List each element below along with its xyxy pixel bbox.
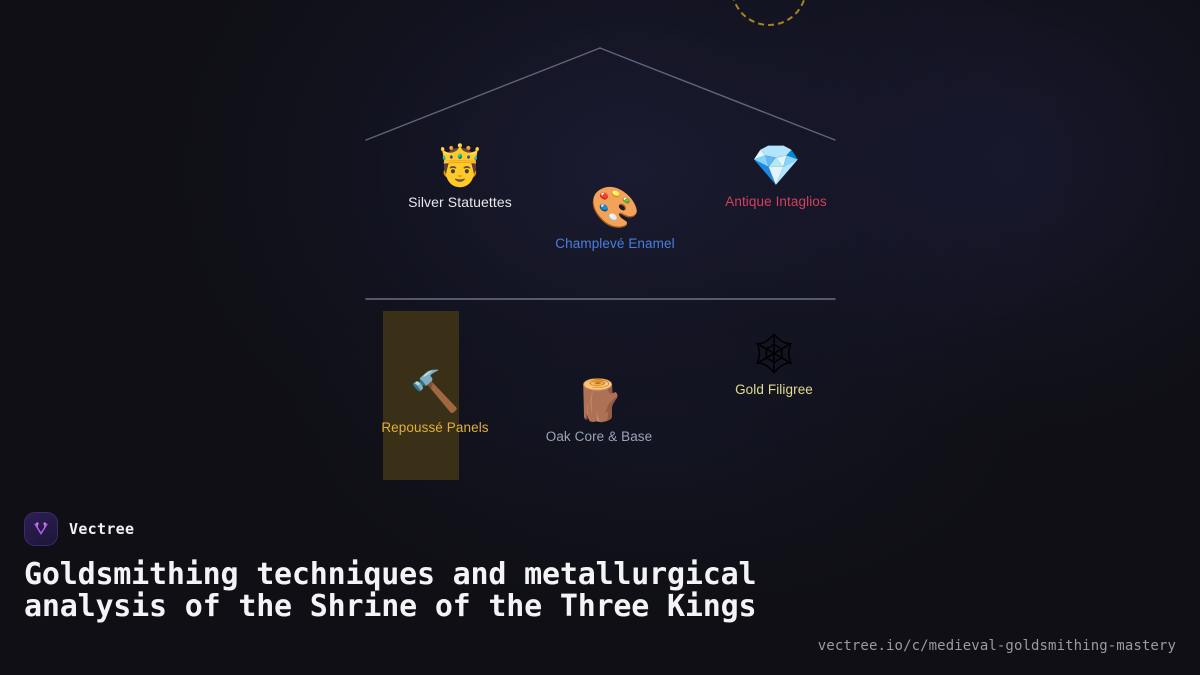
edge-apex-left	[366, 48, 600, 140]
brand-name: Vectree	[69, 520, 134, 538]
edge-apex-right	[600, 48, 835, 140]
brand-row[interactable]: Vectree	[24, 512, 1176, 546]
graph-node-label: Champlevé Enamel	[555, 236, 674, 251]
vectree-glyph	[31, 519, 51, 539]
graph-node-label: Oak Core & Base	[546, 429, 653, 444]
spider-web-emoji: 🕸	[749, 330, 800, 378]
footer-bar: Vectree Goldsmithing techniques and meta…	[0, 490, 1200, 675]
graph-node-oak-core-base[interactable]: 🪵Oak Core & Base	[499, 377, 699, 444]
graph-node-antique-intaglios[interactable]: 💎Antique Intaglios	[676, 142, 876, 209]
hammer-emoji: 🔨	[410, 368, 460, 416]
wood-log-emoji: 🪵	[574, 377, 624, 425]
graph-node-label: Gold Filigree	[735, 382, 813, 397]
prince-emoji: 🤴	[435, 142, 485, 190]
gem-stone-emoji: 💎	[751, 142, 801, 190]
artist-palette-emoji: 🎨	[590, 184, 640, 232]
graph-node-label: Antique Intaglios	[725, 194, 827, 209]
site-url: vectree.io/c/medieval-goldsmithing-maste…	[818, 638, 1176, 654]
page-title: Goldsmithing techniques and metallurgica…	[24, 559, 854, 623]
graph-node-label: Silver Statuettes	[408, 194, 512, 210]
graph-node-gold-filigree[interactable]: 🕸Gold Filigree	[674, 330, 874, 397]
graph-node-label: Repoussé Panels	[381, 420, 488, 435]
vectree-logo-icon	[24, 512, 58, 546]
